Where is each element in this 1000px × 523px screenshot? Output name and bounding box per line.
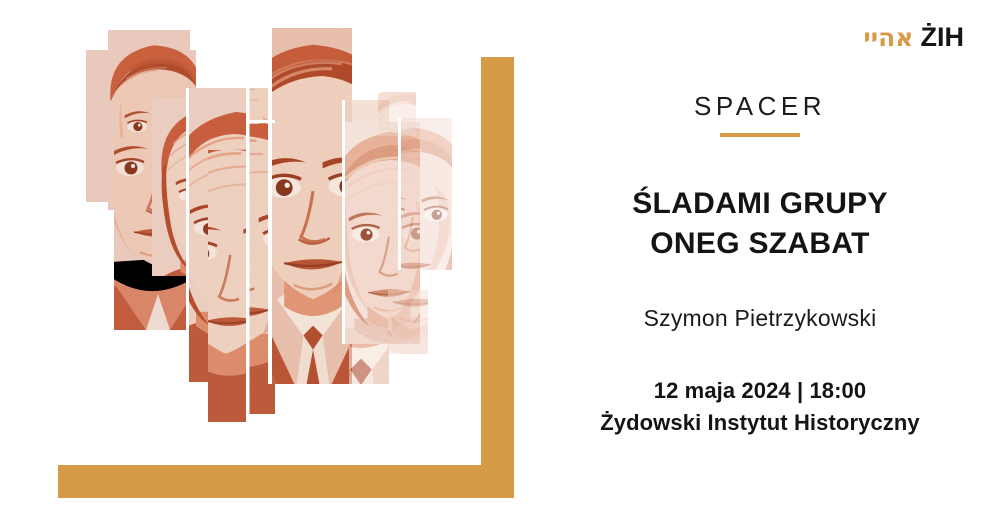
event-type-label: SPACER [560, 93, 960, 119]
page-title: ŚLADAMI GRUPY ONEG SZABAT [560, 184, 960, 263]
page-title-line-2: ONEG SZABAT [560, 224, 960, 264]
kicker-accent-rule [720, 133, 800, 137]
speaker-name: Szymon Pietrzykowski [560, 305, 960, 332]
zih-logo-hebrew-text: אהיי [863, 25, 913, 50]
poster-canvas: אהיי ŻIH SPACER ŚLADAMI GRUPY ONEG SZABA… [0, 0, 1000, 523]
event-date-time: 12 maja 2024 | 18:00 [560, 375, 960, 407]
event-venue: Żydowski Instytut Historyczny [560, 407, 960, 439]
kicker-block: SPACER [560, 93, 960, 137]
zih-logo[interactable]: אהיי ŻIH [863, 24, 964, 51]
zih-logo-latin-text: ŻIH [921, 24, 965, 51]
text-panel: אהיי ŻIH SPACER ŚLADAMI GRUPY ONEG SZABA… [560, 0, 1000, 523]
event-details: 12 maja 2024 | 18:00 Żydowski Instytut H… [560, 375, 960, 439]
portrait-collage-image [0, 0, 560, 523]
page-title-line-1: ŚLADAMI GRUPY [632, 187, 888, 220]
collage-panel [0, 0, 560, 523]
